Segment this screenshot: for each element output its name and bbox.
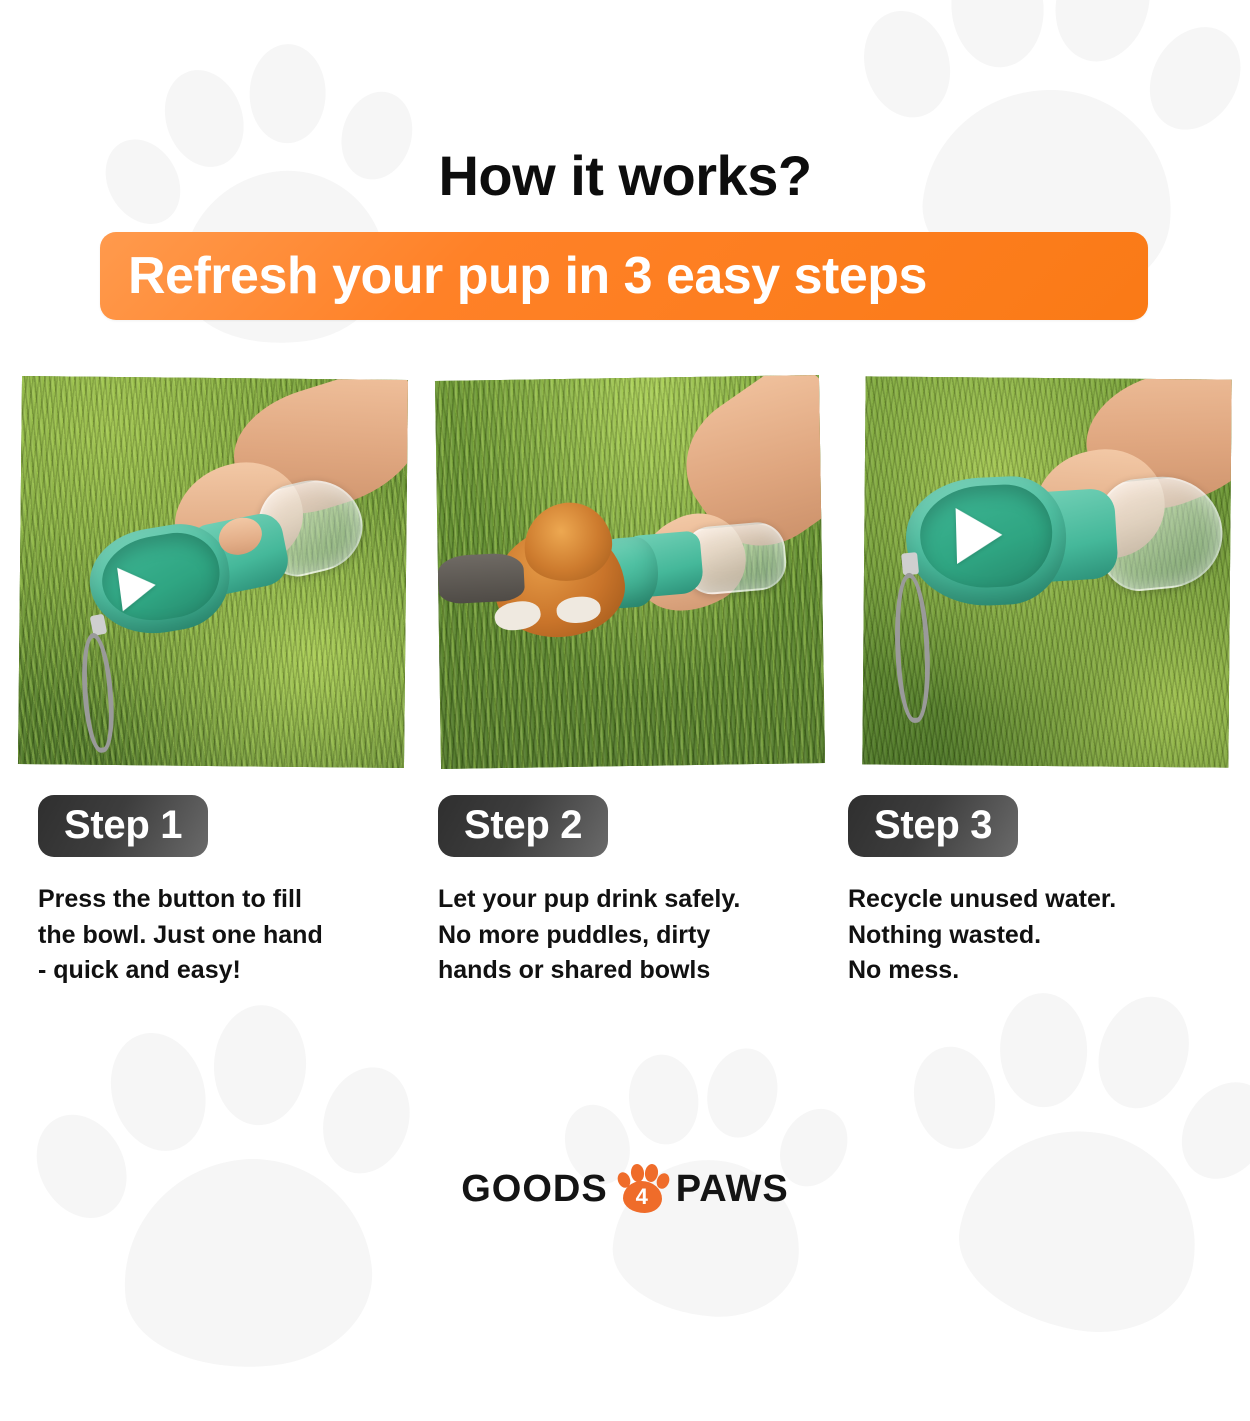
step-2-badge: Step 2: [438, 795, 608, 857]
step-3-badge: Step 3: [848, 795, 1018, 857]
step-2-description: Let your pup drink safely. No more puddl…: [438, 882, 822, 989]
step-1-description: Press the button to fill the bowl. Just …: [38, 882, 410, 989]
logo-paw-toe-icon: [629, 1163, 644, 1183]
step-1-badge: Step 1: [38, 795, 208, 857]
step-2-photo: [435, 375, 825, 769]
paw-toe-icon: [1043, 0, 1163, 72]
paw-pad-icon: [946, 1112, 1212, 1348]
logo-paw-number: 4: [614, 1181, 670, 1213]
subtitle-banner: Refresh your pup in 3 easy steps: [100, 232, 1148, 320]
step-column-3: Step 3 Recycle unused water. Nothing was…: [844, 795, 1234, 989]
paw-toe-icon: [1132, 11, 1250, 147]
paw-toe-icon: [946, 0, 1048, 71]
paw-toe-icon: [211, 1003, 309, 1128]
paw-toe-icon: [1084, 984, 1204, 1120]
paw-toe-icon: [699, 1041, 786, 1144]
brand-logo: GOODS 4 PAWS: [0, 1163, 1250, 1215]
step-1-photo: [18, 376, 408, 768]
logo-text-left: GOODS: [461, 1168, 607, 1211]
puppy-leg: [437, 552, 525, 604]
arrow-right-icon: [117, 563, 158, 611]
step-column-2: Step 2 Let your pup drink safely. No mor…: [432, 795, 822, 989]
photo-strip: [0, 370, 1250, 770]
paw-toe-icon: [97, 1021, 220, 1163]
logo-paw-icon: 4: [614, 1163, 670, 1215]
paw-toe-icon: [249, 43, 327, 143]
paw-toe-icon: [852, 1, 963, 128]
arrow-right-icon: [956, 507, 1003, 564]
logo-text-right: PAWS: [676, 1168, 789, 1211]
step-column-1: Step 1 Press the button to fill the bowl…: [20, 795, 410, 989]
step-3-description: Recycle unused water. Nothing wasted. No…: [848, 882, 1234, 989]
subtitle-text: Refresh your pup in 3 easy steps: [128, 246, 927, 306]
page-title: How it works?: [0, 143, 1250, 208]
paw-toe-icon: [904, 1039, 1003, 1156]
paw-toe-icon: [999, 992, 1088, 1108]
paw-toe-icon: [624, 1051, 703, 1149]
step-3-photo: [862, 376, 1231, 767]
